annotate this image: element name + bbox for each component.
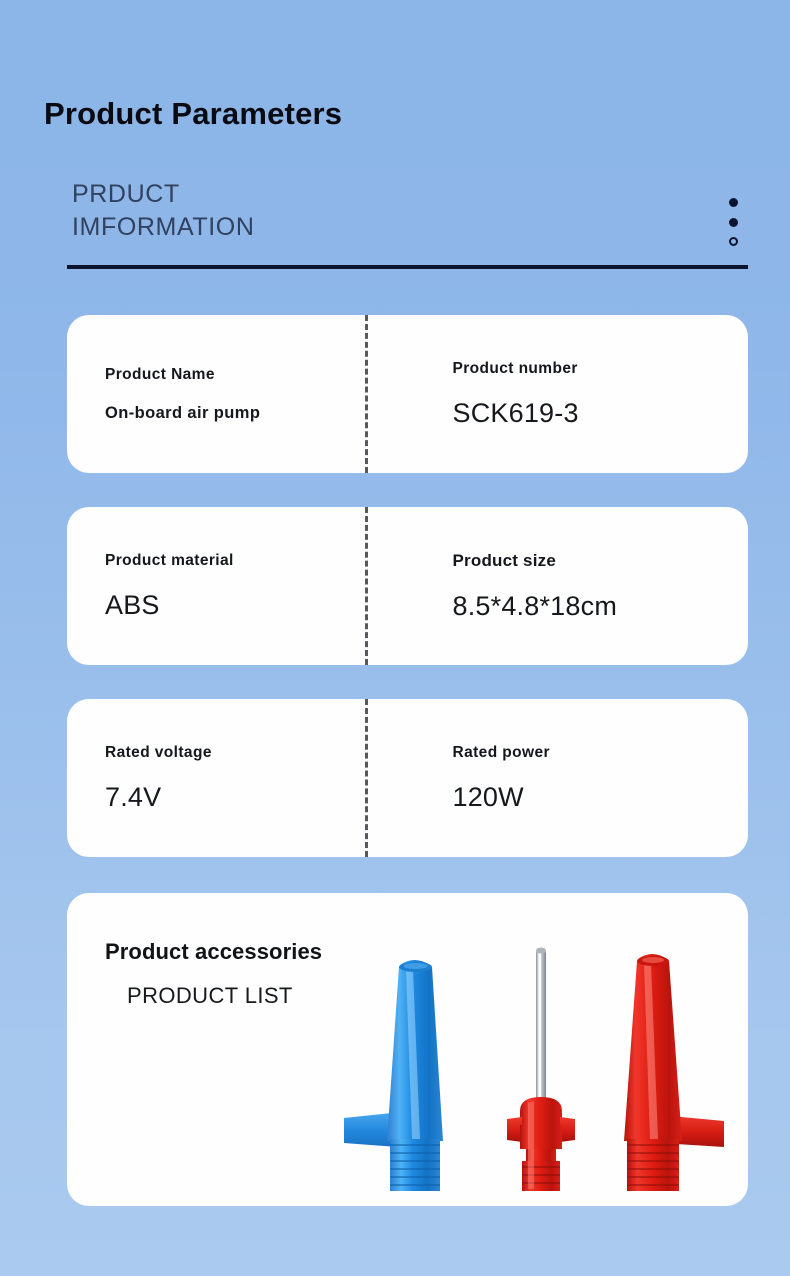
blue-taper-nozzle-icon <box>344 960 443 1191</box>
section-subtitle-line2: IMFORMATION <box>72 211 492 244</box>
spec-value: On-board air pump <box>105 404 408 423</box>
spec-value: 120W <box>453 782 749 813</box>
spec-row: Rated voltage 7.4V Rated power 120W <box>67 699 748 857</box>
spec-dashed-divider <box>365 315 368 473</box>
spec-cell-left: Rated voltage 7.4V <box>67 699 408 857</box>
spec-label: Product size <box>453 551 749 571</box>
accessories-subtitle: PRODUCT LIST <box>127 983 293 1009</box>
red-cone-nozzle-icon <box>624 954 724 1191</box>
spec-label: Rated voltage <box>105 744 408 762</box>
spec-cell-right: Product number SCK619-3 <box>408 315 749 473</box>
section-subtitle: PRDUCT IMFORMATION <box>72 178 492 243</box>
spec-value: 8.5*4.8*18cm <box>453 591 749 622</box>
spec-dashed-divider <box>365 699 368 857</box>
spec-value: SCK619-3 <box>453 398 749 429</box>
kebab-dot-top <box>729 198 738 207</box>
product-parameters-page: Product Parameters PRDUCT IMFORMATION Pr… <box>0 0 790 1276</box>
section-subtitle-line1: PRDUCT <box>72 180 180 208</box>
spec-cell-right: Product size 8.5*4.8*18cm <box>408 507 749 665</box>
spec-label: Rated power <box>453 744 749 762</box>
spec-value: 7.4V <box>105 782 408 813</box>
accessories-image <box>342 943 742 1193</box>
spec-row: Product material ABS Product size 8.5*4.… <box>67 507 748 665</box>
spec-card-product-name: Product Name On-board air pump Product n… <box>67 315 748 473</box>
kebab-dot-bottom <box>729 237 738 246</box>
spec-label: Product Name <box>105 366 408 384</box>
spec-label: Product material <box>105 552 408 570</box>
header-divider-rule <box>67 265 748 269</box>
red-needle-adapter-icon <box>507 948 575 1192</box>
spec-cell-right: Rated power 120W <box>408 699 749 857</box>
accessories-title: Product accessories <box>105 939 322 965</box>
kebab-menu-icon[interactable] <box>722 198 744 246</box>
spec-row: Product Name On-board air pump Product n… <box>67 315 748 473</box>
spec-cell-left: Product material ABS <box>67 507 408 665</box>
spec-value: ABS <box>105 590 408 621</box>
spec-card-material-size: Product material ABS Product size 8.5*4.… <box>67 507 748 665</box>
accessories-card: Product accessories PRODUCT LIST <box>67 893 748 1206</box>
kebab-dot-middle <box>729 218 738 227</box>
accessories-illustration <box>342 943 742 1193</box>
spec-dashed-divider <box>365 507 368 665</box>
page-title: Product Parameters <box>44 96 342 132</box>
spec-cell-left: Product Name On-board air pump <box>67 315 408 473</box>
spec-label: Product number <box>453 360 749 378</box>
spec-card-voltage-power: Rated voltage 7.4V Rated power 120W <box>67 699 748 857</box>
